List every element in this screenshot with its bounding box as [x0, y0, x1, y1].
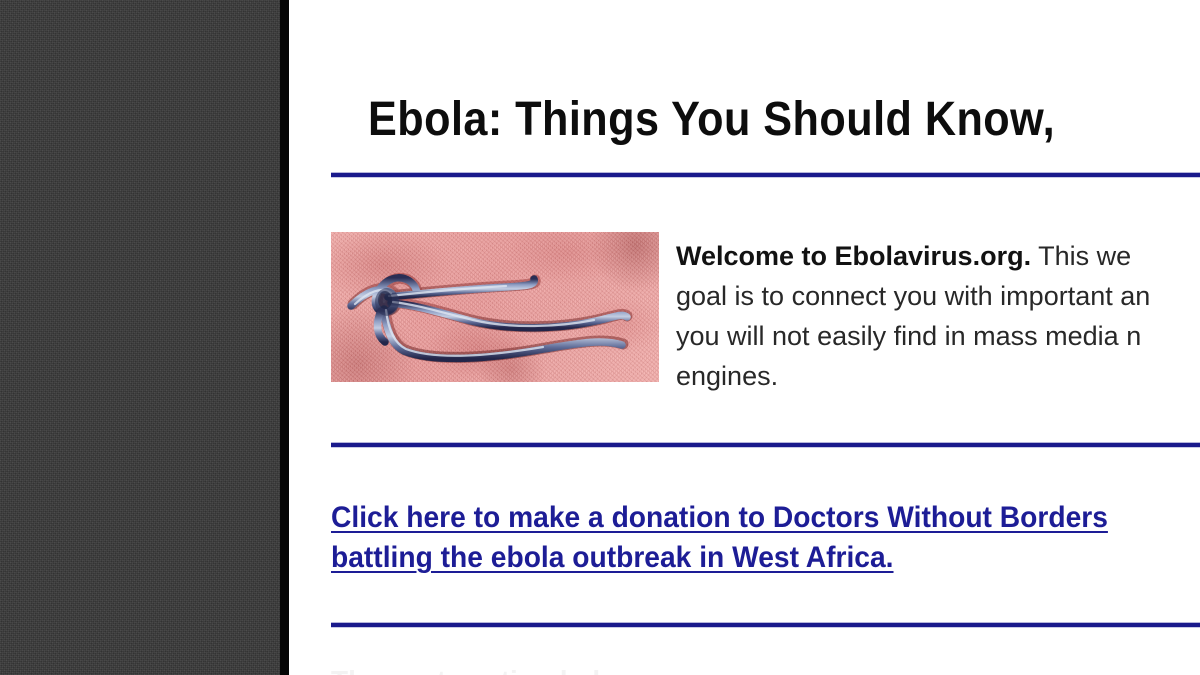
intro-section: Welcome to Ebolavirus.org. This we goal …: [331, 232, 1200, 392]
donation-link-line-1: Click here to make a donation to Doctors…: [331, 501, 1108, 534]
clipped-bottom-text: The next section below: [331, 664, 1200, 675]
welcome-line-1: Welcome to Ebolavirus.org. This we: [676, 236, 1200, 276]
screenshot-root: Ebola: Things You Should Know,: [0, 0, 1200, 675]
welcome-line-4: engines.: [676, 356, 1200, 396]
divider-middle: [331, 443, 1200, 447]
welcome-line-3: you will not easily find in mass media n: [676, 316, 1200, 356]
page-title: Ebola: Things You Should Know,: [368, 90, 1055, 150]
divider-bottom: [331, 623, 1200, 627]
content-page: Ebola: Things You Should Know,: [289, 0, 1200, 675]
donation-link-line-2: battling the ebola outbreak in West Afri…: [331, 541, 894, 574]
ebola-virion-image: [331, 232, 659, 382]
welcome-paragraph: Welcome to Ebolavirus.org. This we goal …: [676, 236, 1200, 396]
welcome-line-2: goal is to connect you with important an: [676, 276, 1200, 316]
divider-top: [331, 173, 1200, 177]
donation-link[interactable]: Click here to make a donation to Doctors…: [331, 498, 1177, 578]
page-background-gutter: [0, 0, 280, 675]
welcome-line-1-rest: This we: [1031, 241, 1131, 271]
gutter-edge-strip: [280, 0, 289, 675]
welcome-lead: Welcome to Ebolavirus.org.: [676, 241, 1031, 271]
virion-filament-shape: [331, 232, 659, 382]
